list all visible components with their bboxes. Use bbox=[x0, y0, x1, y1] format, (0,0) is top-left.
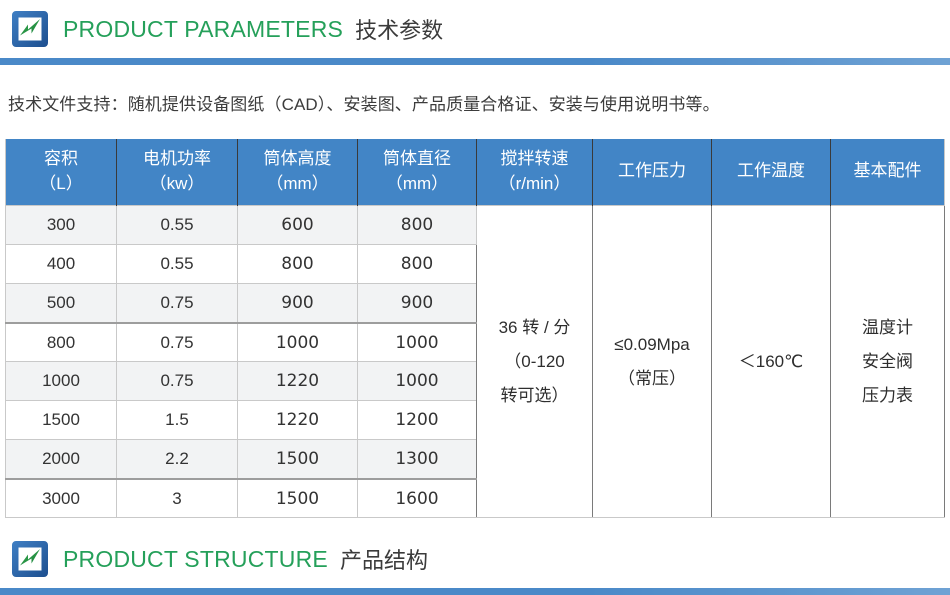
cell-power: 0.75 bbox=[117, 323, 238, 362]
cell-volume: 2000 bbox=[6, 440, 117, 479]
cell-volume: 1000 bbox=[6, 362, 117, 401]
header-line-2: （kw） bbox=[119, 172, 235, 197]
header-line-2: （r/min） bbox=[479, 172, 590, 197]
cell-working-pressure: ≤0.09Mpa （常压） bbox=[593, 206, 712, 518]
column-header-barrel-diameter: 筒体直径 （mm） bbox=[358, 139, 477, 206]
cell-height: 1500 bbox=[238, 440, 358, 479]
pressure-line-2: （常压） bbox=[596, 362, 708, 396]
column-header-barrel-height: 筒体高度 （mm） bbox=[238, 139, 358, 206]
cell-stirring-speed: 36 转 / 分 （0-120 转可选） bbox=[477, 206, 593, 518]
header-line-2: （mm） bbox=[360, 172, 474, 197]
header-line-1: 容积 bbox=[44, 149, 78, 168]
cell-volume: 1500 bbox=[6, 401, 117, 440]
table-header-row: 容积 （L） 电机功率 （kw） 筒体高度 （mm） 筒体直径 （mm） 搅拌转… bbox=[6, 139, 945, 206]
cell-power: 1.5 bbox=[117, 401, 238, 440]
cell-working-temperature: ＜160℃ bbox=[712, 206, 831, 518]
cell-basic-accessories: 温度计 安全阀 压力表 bbox=[831, 206, 945, 518]
header-line-2: （mm） bbox=[240, 172, 355, 197]
cell-height: 600 bbox=[238, 206, 358, 245]
cell-power: 0.55 bbox=[117, 206, 238, 245]
column-header-stirring-speed: 搅拌转速 （r/min） bbox=[477, 139, 593, 206]
cell-volume: 300 bbox=[6, 206, 117, 245]
header-divider-rule bbox=[0, 588, 950, 595]
column-header-volume: 容积 （L） bbox=[6, 139, 117, 206]
cell-power: 0.75 bbox=[117, 284, 238, 323]
cell-height: 1000 bbox=[238, 323, 358, 362]
cell-diameter: 1000 bbox=[358, 323, 477, 362]
cell-diameter: 1600 bbox=[358, 479, 477, 518]
column-header-working-temperature: 工作温度 bbox=[712, 139, 831, 206]
cell-volume: 400 bbox=[6, 245, 117, 284]
speed-line-1: 36 转 / 分 bbox=[480, 311, 589, 345]
cell-volume: 800 bbox=[6, 323, 117, 362]
cell-power: 2.2 bbox=[117, 440, 238, 479]
section-header-parameters-inner: PRODUCT PARAMETERS 技术参数 bbox=[0, 0, 950, 58]
cell-power: 0.75 bbox=[117, 362, 238, 401]
header-line-1: 搅拌转速 bbox=[501, 149, 569, 168]
cell-power: 0.55 bbox=[117, 245, 238, 284]
cell-volume: 3000 bbox=[6, 479, 117, 518]
product-parameters-page: PRODUCT PARAMETERS 技术参数 技术文件支持：随机提供设备图纸（… bbox=[0, 0, 950, 595]
cell-height: 1220 bbox=[238, 401, 358, 440]
intro-text: 技术文件支持：随机提供设备图纸（CAD）、安装图、产品质量合格证、安装与使用说明… bbox=[8, 90, 720, 115]
accessory-line-3: 压力表 bbox=[834, 379, 941, 413]
header-line-1: 筒体高度 bbox=[264, 149, 332, 168]
cell-height: 900 bbox=[238, 284, 358, 323]
section-title-cn: 产品结构 bbox=[340, 543, 428, 575]
header-line-1: 工作压力 bbox=[618, 161, 686, 180]
cell-height: 800 bbox=[238, 245, 358, 284]
header-line-1: 工作温度 bbox=[737, 161, 805, 180]
square-lightning-logo-icon bbox=[9, 538, 51, 580]
section-header-structure: PRODUCT STRUCTURE 产品结构 bbox=[0, 530, 950, 595]
cell-power: 3 bbox=[117, 479, 238, 518]
table-row: 300 0.55 600 800 36 转 / 分 （0-120 转可选） ≤0… bbox=[6, 206, 945, 245]
column-header-motor-power: 电机功率 （kw） bbox=[117, 139, 238, 206]
section-header-parameters: PRODUCT PARAMETERS 技术参数 bbox=[0, 0, 950, 65]
cell-diameter: 900 bbox=[358, 284, 477, 323]
header-line-1: 电机功率 bbox=[143, 149, 211, 168]
pressure-line-1: ≤0.09Mpa bbox=[596, 328, 708, 362]
header-line-1: 基本配件 bbox=[854, 161, 922, 180]
section-title-cn: 技术参数 bbox=[355, 13, 443, 45]
column-header-working-pressure: 工作压力 bbox=[593, 139, 712, 206]
cell-diameter: 1000 bbox=[358, 362, 477, 401]
accessory-line-2: 安全阀 bbox=[834, 345, 941, 379]
header-line-2: （L） bbox=[8, 172, 114, 197]
header-line-1: 筒体直径 bbox=[383, 149, 451, 168]
cell-volume: 500 bbox=[6, 284, 117, 323]
cell-height: 1220 bbox=[238, 362, 358, 401]
section-title-en: PRODUCT STRUCTURE bbox=[63, 546, 328, 573]
header-divider-rule bbox=[0, 58, 950, 65]
section-header-structure-inner: PRODUCT STRUCTURE 产品结构 bbox=[0, 530, 950, 588]
speed-line-2: （0-120 bbox=[480, 345, 589, 379]
section-title-en: PRODUCT PARAMETERS bbox=[63, 16, 343, 43]
accessory-line-1: 温度计 bbox=[834, 311, 941, 345]
temperature-line-1: ＜160℃ bbox=[715, 345, 827, 379]
cell-height: 1500 bbox=[238, 479, 358, 518]
cell-diameter: 800 bbox=[358, 245, 477, 284]
cell-diameter: 1300 bbox=[358, 440, 477, 479]
speed-line-3: 转可选） bbox=[480, 379, 589, 413]
cell-diameter: 800 bbox=[358, 206, 477, 245]
product-parameters-table: 容积 （L） 电机功率 （kw） 筒体高度 （mm） 筒体直径 （mm） 搅拌转… bbox=[5, 139, 945, 518]
column-header-basic-accessories: 基本配件 bbox=[831, 139, 945, 206]
square-lightning-logo-icon bbox=[9, 8, 51, 50]
cell-diameter: 1200 bbox=[358, 401, 477, 440]
